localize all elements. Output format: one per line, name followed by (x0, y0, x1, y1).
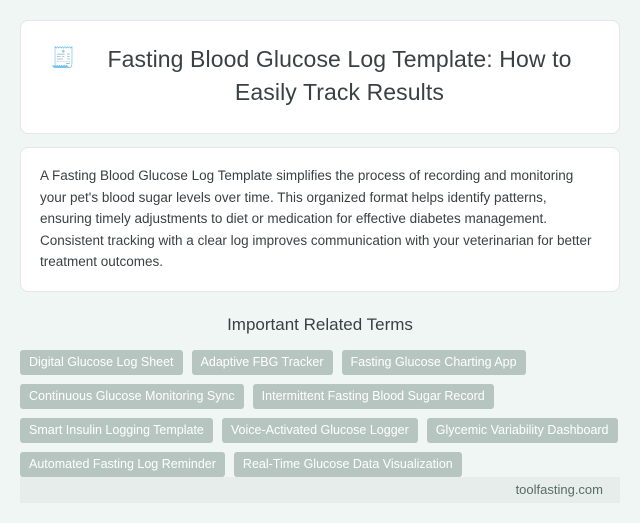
term-tag[interactable]: Continuous Glucose Monitoring Sync (20, 384, 244, 409)
title-card: 🧾 Fasting Blood Glucose Log Template: Ho… (20, 20, 620, 134)
related-terms-section: Important Related Terms Digital Glucose … (20, 314, 620, 477)
page-title: Fasting Blood Glucose Log Template: How … (89, 43, 589, 109)
footer-bar: toolfasting.com (20, 477, 620, 504)
term-tag[interactable]: Adaptive FBG Tracker (192, 350, 333, 375)
description-card: A Fasting Blood Glucose Log Template sim… (20, 147, 620, 292)
term-tag[interactable]: Smart Insulin Logging Template (20, 418, 213, 443)
related-terms-heading: Important Related Terms (20, 314, 620, 336)
related-terms-list: Digital Glucose Log Sheet Adaptive FBG T… (20, 350, 620, 477)
footer-site-name: toolfasting.com (516, 482, 603, 498)
term-tag[interactable]: Glycemic Variability Dashboard (427, 418, 618, 443)
description-text: A Fasting Blood Glucose Log Template sim… (40, 165, 600, 273)
term-tag[interactable]: Real-Time Glucose Data Visualization (234, 452, 462, 477)
term-tag[interactable]: Fasting Glucose Charting App (342, 350, 526, 375)
term-tag[interactable]: Voice-Activated Glucose Logger (222, 418, 418, 443)
term-tag[interactable]: Intermittent Fasting Blood Sugar Record (253, 384, 494, 409)
page-root: 🧾 Fasting Blood Glucose Log Template: Ho… (0, 0, 640, 523)
receipt-icon: 🧾 (51, 43, 76, 73)
term-tag[interactable]: Automated Fasting Log Reminder (20, 452, 225, 477)
term-tag[interactable]: Digital Glucose Log Sheet (20, 350, 183, 375)
